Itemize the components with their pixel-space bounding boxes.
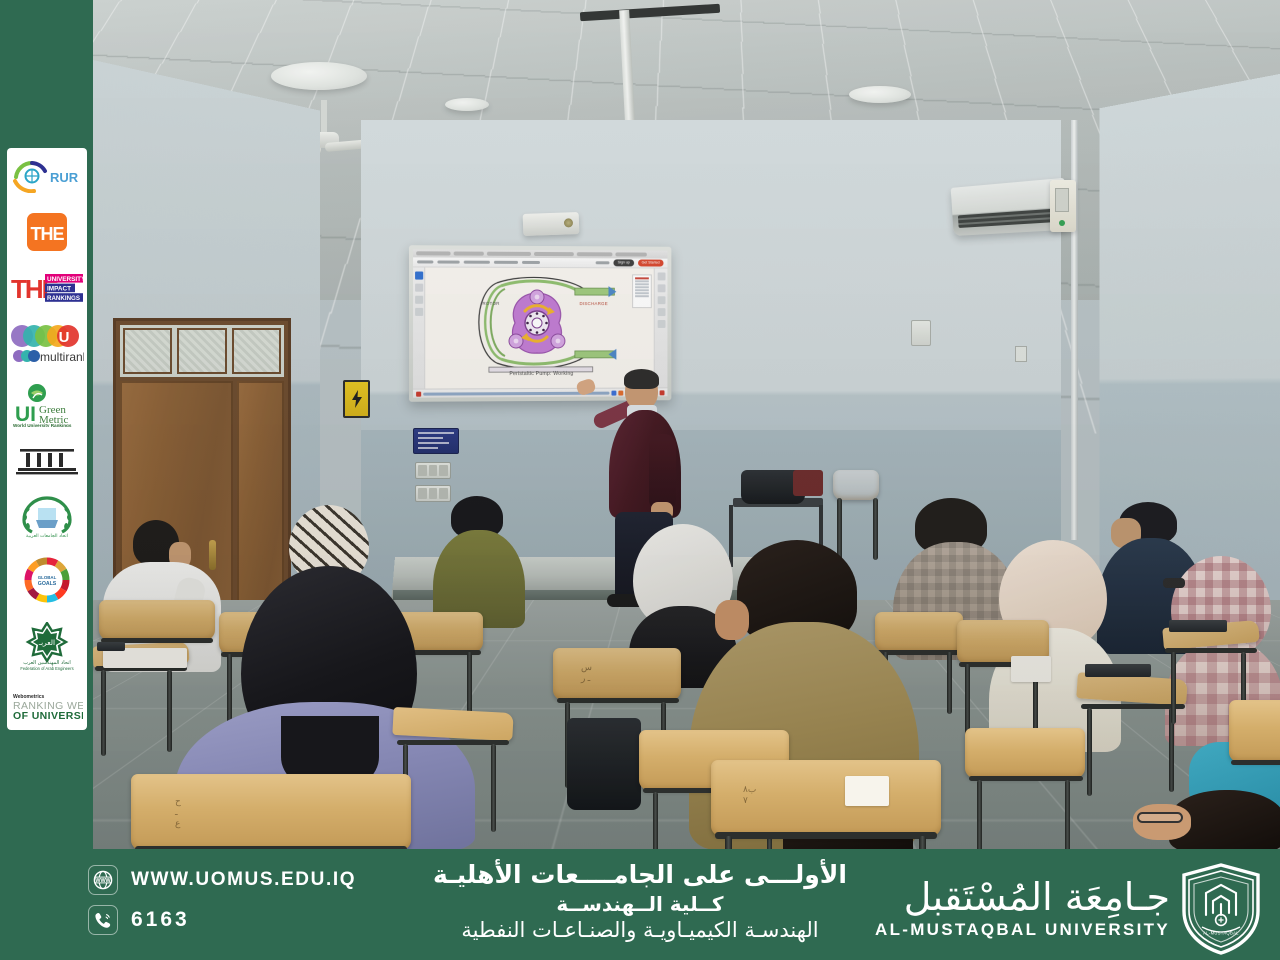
figure-line [635, 286, 649, 288]
signup-pill-button[interactable]: Sign up [614, 259, 634, 266]
peristaltic-pump-diagram: ROTOR DISCHARGE [466, 271, 616, 376]
university-names: جـامِعَة المُسْتَقبل AL-MUSTAQBAL UNIVER… [875, 878, 1170, 940]
presenter-arm [649, 434, 676, 510]
taskbar-icon[interactable] [416, 391, 421, 396]
figure-line [635, 283, 649, 285]
rur-logo-icon: RUR [12, 157, 82, 193]
u-multirank-logo: U multirank [10, 323, 84, 365]
electrical-warning-sign [343, 380, 370, 418]
nav-link[interactable] [522, 261, 540, 264]
federation-arab-engineers-logo: العربـ اتحاد المهندسين العرب Federation … [10, 622, 84, 672]
sidebar-icon[interactable] [415, 296, 423, 304]
svg-text:UNIVERSITY: UNIVERSITY [47, 276, 83, 283]
sidebar-icon[interactable] [657, 320, 665, 328]
sidebar-icon[interactable] [415, 271, 423, 279]
figure-line [635, 280, 649, 282]
the-impact-rankings-logo: THE UNIVERSITY IMPACT RANKINGS [10, 271, 84, 305]
plaque-text-line [418, 437, 443, 439]
svg-text:multirank: multirank [40, 350, 84, 364]
phone-row[interactable]: 6163 [88, 905, 356, 935]
ceiling-fan-rod [321, 100, 327, 134]
light-switch[interactable] [439, 465, 448, 476]
wall-socket[interactable] [1015, 346, 1027, 362]
tablet-device[interactable] [97, 642, 125, 651]
door-transom-glass [120, 325, 284, 377]
toolbar-spacer [544, 261, 592, 264]
ceiling-light [849, 86, 911, 103]
nav-link[interactable] [494, 261, 518, 264]
bottom-banner: WWW WWW.UOMUS.EDU.IQ 6163 الأولـــى على … [0, 849, 1280, 960]
rotor-label: ROTOR [482, 301, 499, 306]
pump-svg [466, 271, 616, 376]
qs-stars-logo [10, 446, 84, 476]
discharge-label: DISCHARGE [579, 301, 608, 306]
ceiling-light [271, 62, 367, 90]
ui-greenmetric-icon: UI Green Metric World University Ranking… [11, 383, 83, 427]
svg-text:World University Rankings: World University Rankings [13, 423, 72, 427]
the-logo: THE [10, 211, 84, 253]
arabic-college: كــلية الــهندســة [433, 891, 847, 917]
globe-icon: WWW [88, 865, 118, 895]
plaque-text-line [418, 442, 449, 444]
light-switch[interactable] [418, 465, 427, 476]
svg-text:اتحاد الجامعات العربية: اتحاد الجامعات العربية [26, 534, 68, 538]
browser-tab[interactable] [615, 252, 646, 256]
university-name-english: AL-MUSTAQBAL UNIVERSITY [875, 920, 1170, 940]
phone-icon [88, 905, 118, 935]
sdg-goals-icon: GLOBAL GOALS [23, 556, 71, 604]
figure-line [635, 295, 649, 297]
qs-stars-icon [16, 446, 78, 476]
website-row[interactable]: WWW WWW.UOMUS.EDU.IQ [88, 865, 356, 895]
svg-text:OF UNIVERSITIES: OF UNIVERSITIES [13, 710, 83, 720]
arabic-tagline: الأولـــى على الجامــــعات الأهليـة [433, 859, 847, 891]
student [1133, 790, 1280, 849]
svg-text:Federation of Arab Engineers: Federation of Arab Engineers [20, 666, 73, 671]
svg-text:THE: THE [31, 224, 65, 244]
backpack[interactable] [567, 718, 641, 810]
light-switch-plate[interactable] [415, 462, 451, 479]
svg-text:RUR: RUR [50, 170, 79, 185]
lightning-bolt-icon [350, 389, 364, 409]
website-url[interactable]: WWW.UOMUS.EDU.IQ [131, 869, 356, 891]
ac-display [1055, 188, 1069, 212]
promo-card: Sign up Get Started [0, 0, 1280, 960]
wall-socket[interactable] [911, 320, 931, 346]
ceiling-light [445, 98, 489, 111]
browser-tab[interactable] [487, 252, 531, 256]
arab-universities-union-logo: اتحاد الجامعات العربية [10, 494, 84, 538]
transom-pane [232, 328, 281, 374]
student-ear [715, 600, 749, 640]
arabic-tagline-block: الأولـــى على الجامــــعات الأهليـة كــل… [433, 859, 847, 945]
nav-link[interactable] [464, 261, 490, 264]
nav-link[interactable] [596, 261, 610, 264]
ac-control-panel[interactable] [1050, 180, 1076, 232]
university-identity: جـامِعَة المُسْتَقبل AL-MUSTAQBAL UNIVER… [875, 863, 1262, 955]
laptop[interactable] [1169, 620, 1227, 632]
browser-tab[interactable] [534, 252, 574, 256]
plaque-text-line [418, 447, 438, 449]
ac-louver [958, 209, 1057, 228]
nav-link[interactable] [437, 260, 459, 263]
ui-greenmetric-logo: UI Green Metric World University Ranking… [10, 383, 84, 427]
figure-line [635, 277, 649, 279]
slide-side-figure [632, 274, 652, 308]
svg-text:GOALS: GOALS [38, 581, 57, 587]
svg-text:U: U [59, 329, 70, 346]
browser-tab[interactable] [416, 251, 450, 255]
sidebar-icon[interactable] [657, 296, 665, 304]
federation-arab-engineers-icon: العربـ اتحاد المهندسين العرب Federation … [14, 622, 80, 672]
sdg-goals-logo: GLOBAL GOALS [10, 556, 84, 604]
transom-pane [177, 328, 226, 374]
contact-block: WWW WWW.UOMUS.EDU.IQ 6163 [88, 865, 356, 935]
get-started-pill-button[interactable]: Get Started [638, 259, 664, 266]
arabic-department: الهندسـة الكيميـاويـة والصنـاعـات النفطي… [433, 917, 847, 945]
sidebar-icon[interactable] [657, 284, 665, 292]
light-switch[interactable] [429, 465, 438, 476]
the-logo-icon: THE [25, 211, 69, 253]
projector-lens [564, 218, 573, 227]
svg-text:GLOBAL: GLOBAL [38, 575, 57, 580]
sidebar-icon[interactable] [415, 308, 423, 316]
rankings-logo-rail: RUR THE THE UNIVERSITY IMPACT RANKINGS [7, 148, 87, 730]
transom-pane [123, 328, 172, 374]
sidebar-icon[interactable] [657, 272, 665, 280]
ac-power-led [1059, 220, 1065, 226]
eyeglasses-icon [1137, 812, 1183, 823]
university-name-arabic: جـامِعَة المُسْتَقبل [875, 878, 1170, 918]
sidebar-icon[interactable] [657, 308, 665, 316]
nav-link[interactable] [417, 260, 433, 263]
presenter-hair [624, 369, 659, 389]
folder [793, 470, 823, 496]
lecture-photo: Sign up Get Started [93, 0, 1280, 849]
university-crest-icon: AL-MUSTAQBAL [1180, 863, 1262, 955]
wall-mounted-projector [523, 212, 580, 236]
svg-text:RANKINGS: RANKINGS [47, 295, 80, 302]
the-impact-rankings-icon: THE UNIVERSITY IMPACT RANKINGS [11, 271, 83, 305]
browser-tab[interactable] [577, 252, 613, 256]
figure-line [635, 292, 649, 294]
laptop[interactable] [1085, 664, 1151, 677]
phone-number[interactable]: 6163 [131, 908, 190, 932]
figure-line [635, 289, 649, 291]
paper-sheet[interactable] [1011, 656, 1051, 682]
sidebar-icon[interactable] [415, 284, 423, 292]
svg-text:AL-MUSTAQBAL: AL-MUSTAQBAL [1203, 931, 1239, 936]
light-switch[interactable] [418, 488, 427, 499]
browser-tab[interactable] [454, 252, 484, 256]
webometrics-icon: Webometrics RANKING WEB OF UNIVERSITIES [11, 690, 83, 720]
webometrics-logo: Webometrics RANKING WEB OF UNIVERSITIES [10, 690, 84, 720]
eyeglasses-icon [1163, 578, 1185, 588]
rur-logo: RUR [10, 157, 84, 193]
room-info-plaque [413, 428, 459, 454]
svg-text:العربـ: العربـ [38, 638, 55, 647]
arab-universities-union-icon: اتحاد الجامعات العربية [14, 494, 80, 538]
svg-text:WWW: WWW [95, 878, 111, 884]
plaque-text-line [418, 432, 454, 434]
svg-text:IMPACT: IMPACT [47, 286, 71, 293]
u-multirank-icon: U multirank [10, 323, 84, 365]
